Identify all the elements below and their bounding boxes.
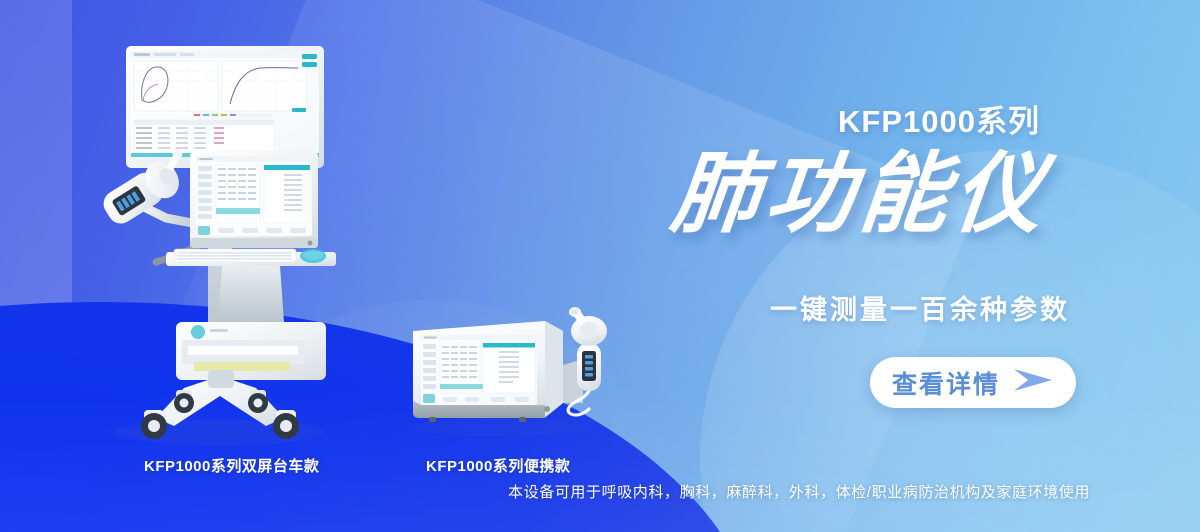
product-banner: KFP1000系列双屏台车款 KFP1000系列便携款 KFP1000系列 肺功…: [0, 0, 1200, 532]
arrow-right-icon: [1012, 367, 1054, 398]
background-left-band: [0, 0, 72, 532]
product-series-label: KFP1000系列: [838, 96, 1040, 141]
marketing-copy-column: KFP1000系列 肺功能仪 一键测量一百余种参数 查看详情: [660, 0, 1200, 532]
view-details-label: 查看详情: [892, 365, 1000, 401]
page-title: 肺功能仪: [667, 150, 1052, 238]
cart-spirometer-icon: [70, 40, 370, 450]
portable-spirometer-icon: [395, 305, 625, 440]
cart-printer-module: [176, 266, 326, 380]
marketing-subheadline: 一键测量一百余种参数: [770, 288, 1070, 327]
caption-portable-model: KFP1000系列便携款: [426, 455, 570, 476]
caption-cart-model: KFP1000系列双屏台车款: [144, 455, 319, 476]
cart-touchscreen: [190, 150, 318, 248]
view-details-button[interactable]: 查看详情: [870, 357, 1076, 408]
usage-disclaimer: 本设备可用于呼吸内科，胸科，麻醉科，外科，体检/职业病防治机构及家庭环境使用: [508, 481, 1090, 502]
cart-keyboard-tray: [166, 249, 336, 266]
